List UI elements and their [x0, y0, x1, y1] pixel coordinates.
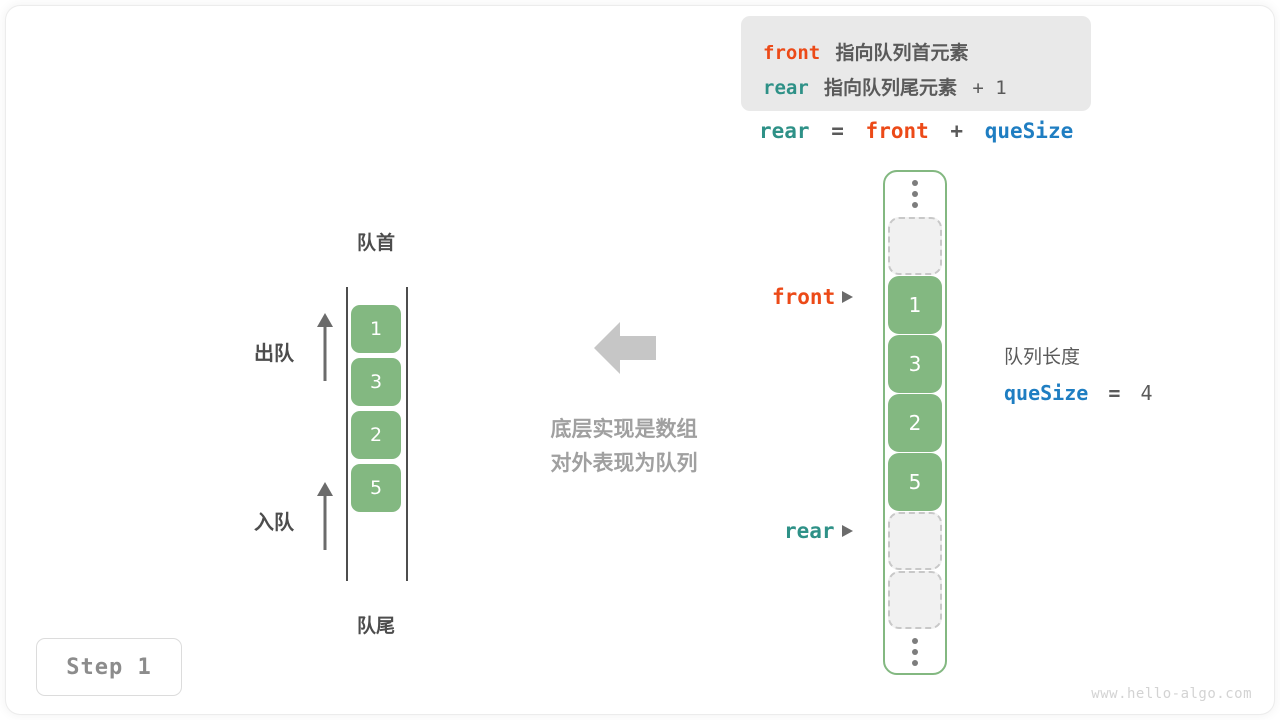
array-slot-empty	[888, 571, 942, 629]
formula-equals: =	[831, 119, 844, 143]
dequeue-up-arrow-icon	[316, 313, 334, 381]
queue-size-caption: 队列长度	[1004, 342, 1152, 369]
enqueue-up-arrow-icon	[316, 482, 334, 550]
formula-quesize: queSize	[985, 119, 1074, 143]
queue-cell: 1	[351, 305, 401, 353]
queue-rail-left	[346, 287, 348, 581]
array-slot-filled: 5	[888, 453, 942, 511]
queue-rail-right	[406, 287, 408, 581]
queue-size-expression: queSize = 4	[1004, 381, 1152, 405]
queue-head-label: 队首	[348, 228, 404, 255]
legend-front-text: 指向队列首元素	[835, 42, 968, 64]
queue-cell-list: 1 3 2 5	[351, 305, 401, 517]
array-slot-filled: 3	[888, 335, 942, 393]
queue-tail-label: 队尾	[348, 611, 404, 638]
queue-size-note: 队列长度 queSize = 4	[1004, 342, 1152, 405]
queue-size-equals: =	[1108, 381, 1120, 405]
queue-cell: 2	[351, 411, 401, 459]
center-annotation: 底层实现是数组 对外表现为队列	[513, 412, 735, 480]
legend-rear-var: rear	[763, 77, 809, 99]
enqueue-label: 入队	[254, 506, 294, 535]
array-slot-filled: 2	[888, 394, 942, 452]
front-pointer-label: front	[772, 285, 853, 309]
queue-size-value: 4	[1140, 381, 1152, 405]
formula-plus: +	[950, 119, 963, 143]
array-slot-empty	[888, 217, 942, 275]
legend-front-var: front	[763, 42, 820, 64]
rear-pointer-text: rear	[784, 519, 835, 543]
center-annotation-line2: 对外表现为队列	[513, 446, 735, 480]
array-slot-list: 1 3 2 5	[888, 172, 942, 675]
array-slot-filled: 1	[888, 276, 942, 334]
legend-rear-text: 指向队列尾元素	[824, 77, 957, 99]
formula-front: front	[866, 119, 929, 143]
formula-rear: rear	[759, 119, 810, 143]
queue-cell: 5	[351, 464, 401, 512]
queue-size-var: queSize	[1004, 381, 1088, 405]
legend-line-front: front 指向队列首元素	[763, 38, 969, 65]
watermark: www.hello-algo.com	[1091, 686, 1252, 702]
dequeue-label: 出队	[254, 337, 294, 366]
rear-formula: rear = front + queSize	[759, 119, 1073, 143]
legend-line-rear: rear 指向队列尾元素 + 1	[763, 73, 1007, 100]
array-ellipsis-top-icon	[888, 172, 942, 216]
diagram-canvas: front 指向队列首元素 rear 指向队列尾元素 + 1 rear = fr…	[0, 0, 1280, 720]
front-pointer-text: front	[772, 285, 835, 309]
queue-cell: 3	[351, 358, 401, 406]
rear-pointer-label: rear	[784, 519, 853, 543]
pointer-legend-box: front 指向队列首元素 rear 指向队列尾元素 + 1	[741, 16, 1091, 111]
array-slot-empty	[888, 512, 942, 570]
step-badge: Step 1	[36, 638, 182, 696]
center-annotation-line1: 底层实现是数组	[513, 412, 735, 446]
array-ellipsis-bottom-icon	[888, 630, 942, 674]
left-arrow-icon	[594, 320, 656, 376]
rear-pointer-arrow-icon	[842, 525, 853, 537]
legend-rear-suffix: + 1	[972, 77, 1006, 99]
front-pointer-arrow-icon	[842, 291, 853, 303]
